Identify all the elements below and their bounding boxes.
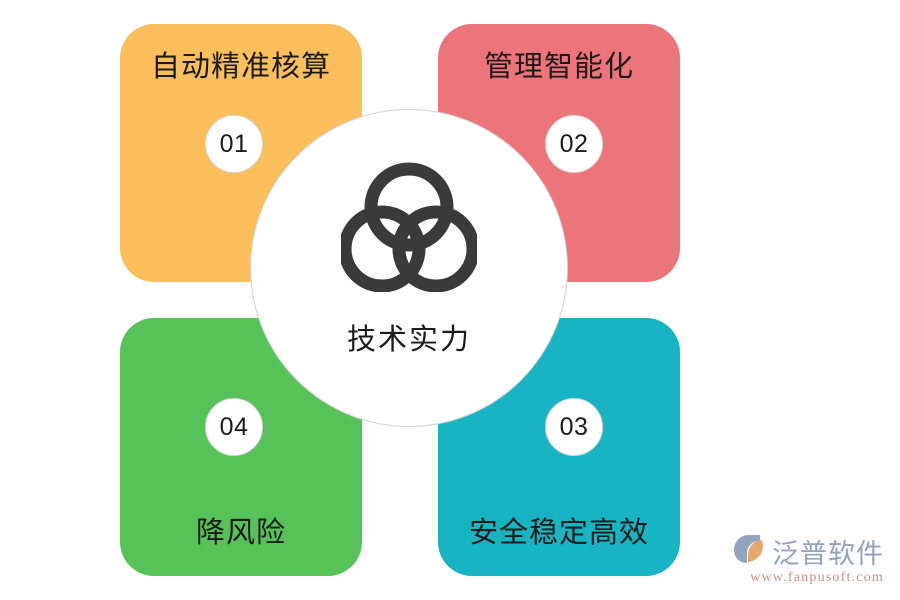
center-hub-label: 技术实力 xyxy=(251,316,567,358)
center-hub[interactable]: 技术实力 xyxy=(250,109,568,427)
card-02-title: 管理智能化 xyxy=(438,52,680,84)
infographic-canvas: 自动精准核算 管理智能化 xyxy=(0,0,900,600)
badge-02-number: 02 xyxy=(560,130,589,159)
badge-03-number: 03 xyxy=(560,413,589,442)
watermark-url: www.fanpusoft.com xyxy=(750,570,884,586)
badge-03: 03 xyxy=(545,398,603,456)
badge-04: 04 xyxy=(205,398,263,456)
badge-01: 01 xyxy=(205,115,263,173)
badge-04-number: 04 xyxy=(220,413,249,442)
card-03-title: 安全稳定高效 xyxy=(438,518,680,550)
fanpu-logo-icon xyxy=(732,533,768,570)
watermark-row: 泛普软件 xyxy=(732,532,884,571)
watermark-name: 泛普软件 xyxy=(772,532,884,571)
card-01-title: 自动精准核算 xyxy=(120,52,362,84)
card-04-title: 降风险 xyxy=(120,518,362,550)
three-circles-icon xyxy=(341,162,477,292)
badge-02: 02 xyxy=(545,115,603,173)
badge-01-number: 01 xyxy=(220,130,249,159)
watermark: 泛普软件 www.fanpusoft.com xyxy=(732,532,884,586)
